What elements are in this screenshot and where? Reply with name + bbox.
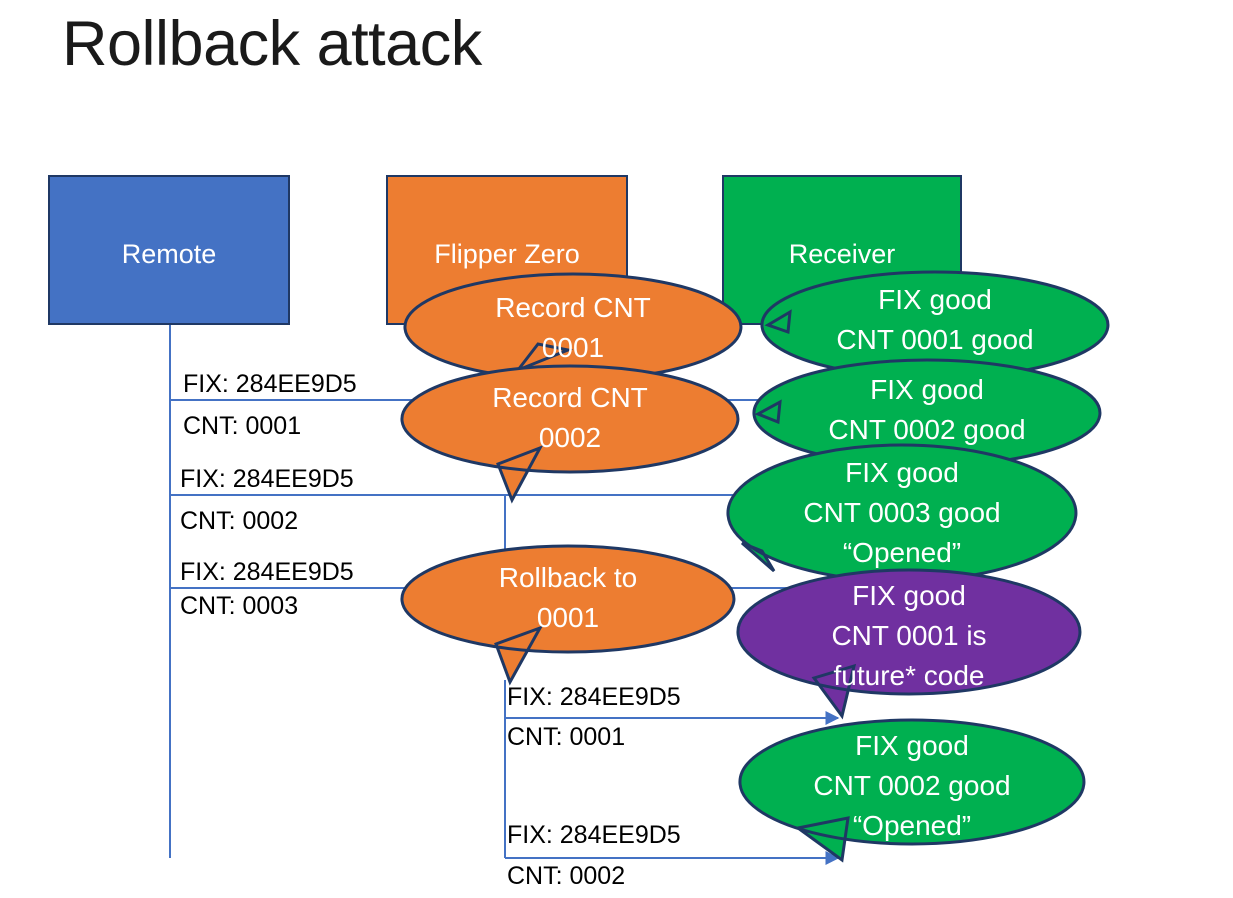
message-fix-m5: FIX: 284EE9D5	[507, 822, 681, 848]
message-fix-m2: FIX: 284EE9D5	[180, 466, 354, 492]
message-fix-m3: FIX: 284EE9D5	[180, 559, 354, 585]
message-cnt-m5: CNT: 0002	[507, 863, 625, 889]
message-cnt-m1: CNT: 0001	[183, 413, 301, 439]
message-cnt-m2: CNT: 0002	[180, 508, 298, 534]
message-fix-m1: FIX: 284EE9D5	[183, 371, 357, 397]
slide-canvas: Rollback attack Remote Flipper Zero Rec	[0, 0, 1233, 898]
message-labels-layer: FIX: 284EE9D5 CNT: 0001 FIX: 284EE9D5 CN…	[0, 0, 1233, 898]
message-fix-m4: FIX: 284EE9D5	[507, 684, 681, 710]
message-cnt-m3: CNT: 0003	[180, 593, 298, 619]
message-cnt-m4: CNT: 0001	[507, 724, 625, 750]
